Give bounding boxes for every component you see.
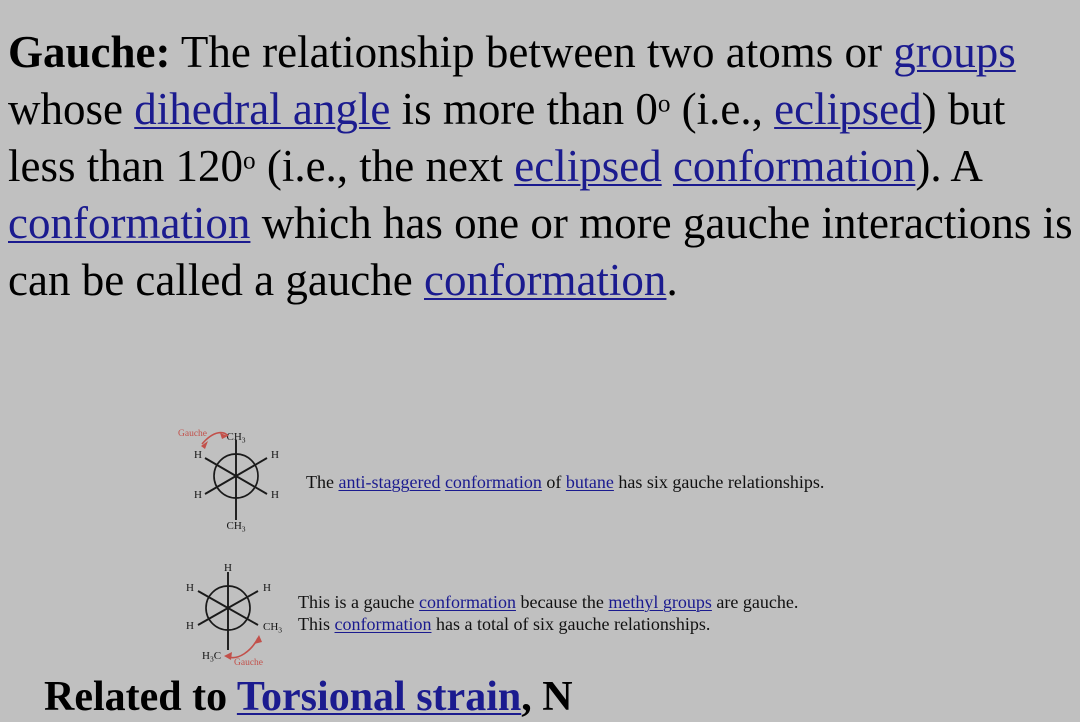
figure-anti-staggered: CH3 H H H H CH3 Gauche The anti-staggere… <box>176 428 824 534</box>
link-eclipsed-1[interactable]: eclipsed <box>774 84 921 134</box>
label-back-lower-right-h: H <box>271 489 279 501</box>
definition-text-6: (i.e., the next <box>256 141 515 191</box>
related-to-label: Related to <box>44 674 227 720</box>
caption-text-5: has a total of six gauche relationships. <box>432 614 711 634</box>
label-front-top-h: H <box>224 562 232 574</box>
caption-anti-staggered: The anti-staggered conformation of butan… <box>306 471 824 493</box>
link-conformation[interactable]: conformation <box>445 472 542 492</box>
gauche-arrow-head-right <box>254 635 262 644</box>
figure-gauche: H H H H CH3 H3C Gauche This is a gauche … <box>176 558 798 668</box>
link-conformation-2[interactable]: conformation <box>335 614 432 634</box>
caption-text-4: has six gauche relationships. <box>614 472 824 492</box>
definition-text-10: . <box>666 255 677 305</box>
link-conformation-1[interactable]: conformation <box>419 592 516 612</box>
caption-text-3: of <box>542 472 566 492</box>
newman-projection-anti-diagram: CH3 H H H H CH3 Gauche <box>176 428 296 534</box>
label-front-upper-left-h: H <box>194 449 202 461</box>
definition-text-2: whose <box>8 84 134 134</box>
label-front-upper-right-h: H <box>271 449 279 461</box>
definition-paragraph: Gauche: The relationship between two ato… <box>8 24 1076 309</box>
label-back-lower-left-h: H <box>194 489 202 501</box>
bond-front-lower-left <box>198 608 228 625</box>
link-conformation-1[interactable]: conformation <box>673 141 915 191</box>
term-gauche: Gauche: <box>8 27 171 77</box>
newman-gauche-svg: H H H H CH3 H3C Gauche <box>176 558 292 668</box>
caption-text-2: because the <box>516 592 608 612</box>
link-torsional-strain[interactable]: Torsional strain <box>237 674 521 720</box>
label-back-bottom: CH3 <box>226 520 245 534</box>
gauche-arrow-head-left <box>224 652 232 660</box>
link-butane[interactable]: butane <box>566 472 614 492</box>
caption-text-3: are gauche. <box>712 592 798 612</box>
definition-text-1: The relationship between two atoms or <box>171 27 894 77</box>
gauche-annotation-label: Gauche <box>178 429 207 439</box>
caption-text-1: This is a gauche <box>298 592 419 612</box>
caption-gauche: This is a gauche conformation because th… <box>298 591 798 635</box>
link-eclipsed-2[interactable]: eclipsed <box>514 141 661 191</box>
caption-text-1: The <box>306 472 338 492</box>
label-front-lower-right-methyl: CH3 <box>263 621 282 635</box>
link-conformation-3[interactable]: conformation <box>424 255 666 305</box>
link-conformation-2[interactable]: conformation <box>8 198 250 248</box>
label-back-upper-left-h: H <box>186 582 194 594</box>
bond-back-upper-right <box>228 591 258 608</box>
definition-text-7 <box>662 141 673 191</box>
newman-projection-gauche-diagram: H H H H CH3 H3C Gauche <box>176 558 292 668</box>
bond-back-upper-left <box>198 591 228 608</box>
newman-anti-svg: CH3 H H H H CH3 Gauche <box>176 428 296 534</box>
label-front-top: CH3 <box>226 431 245 445</box>
related-to-text-2: , N <box>521 674 572 720</box>
caption-gauche-line-1: This is a gauche conformation because th… <box>298 591 798 613</box>
caption-text-4: This <box>298 614 335 634</box>
link-groups[interactable]: groups <box>893 27 1016 77</box>
definition-text-3: is more than 0 <box>390 84 657 134</box>
label-front-lower-left-h: H <box>186 620 194 632</box>
link-anti-staggered[interactable]: anti-staggered <box>338 472 440 492</box>
caption-gauche-line-2: This conformation has a total of six gau… <box>298 613 798 635</box>
gauche-annotation-label: Gauche <box>234 658 263 668</box>
degree-symbol-120: o <box>243 147 256 174</box>
link-methyl-groups[interactable]: methyl groups <box>608 592 712 612</box>
degree-symbol-zero: o <box>658 90 671 117</box>
definition-text-4: (i.e., <box>670 84 774 134</box>
label-back-bottom-methyl: H3C <box>202 650 221 664</box>
link-dihedral-angle[interactable]: dihedral angle <box>134 84 390 134</box>
definition-text-8: ). A <box>915 141 980 191</box>
related-to-line: Related to Torsional strain, N <box>44 672 573 722</box>
bond-front-lower-right <box>228 608 258 625</box>
label-back-upper-right-h: H <box>263 582 271 594</box>
